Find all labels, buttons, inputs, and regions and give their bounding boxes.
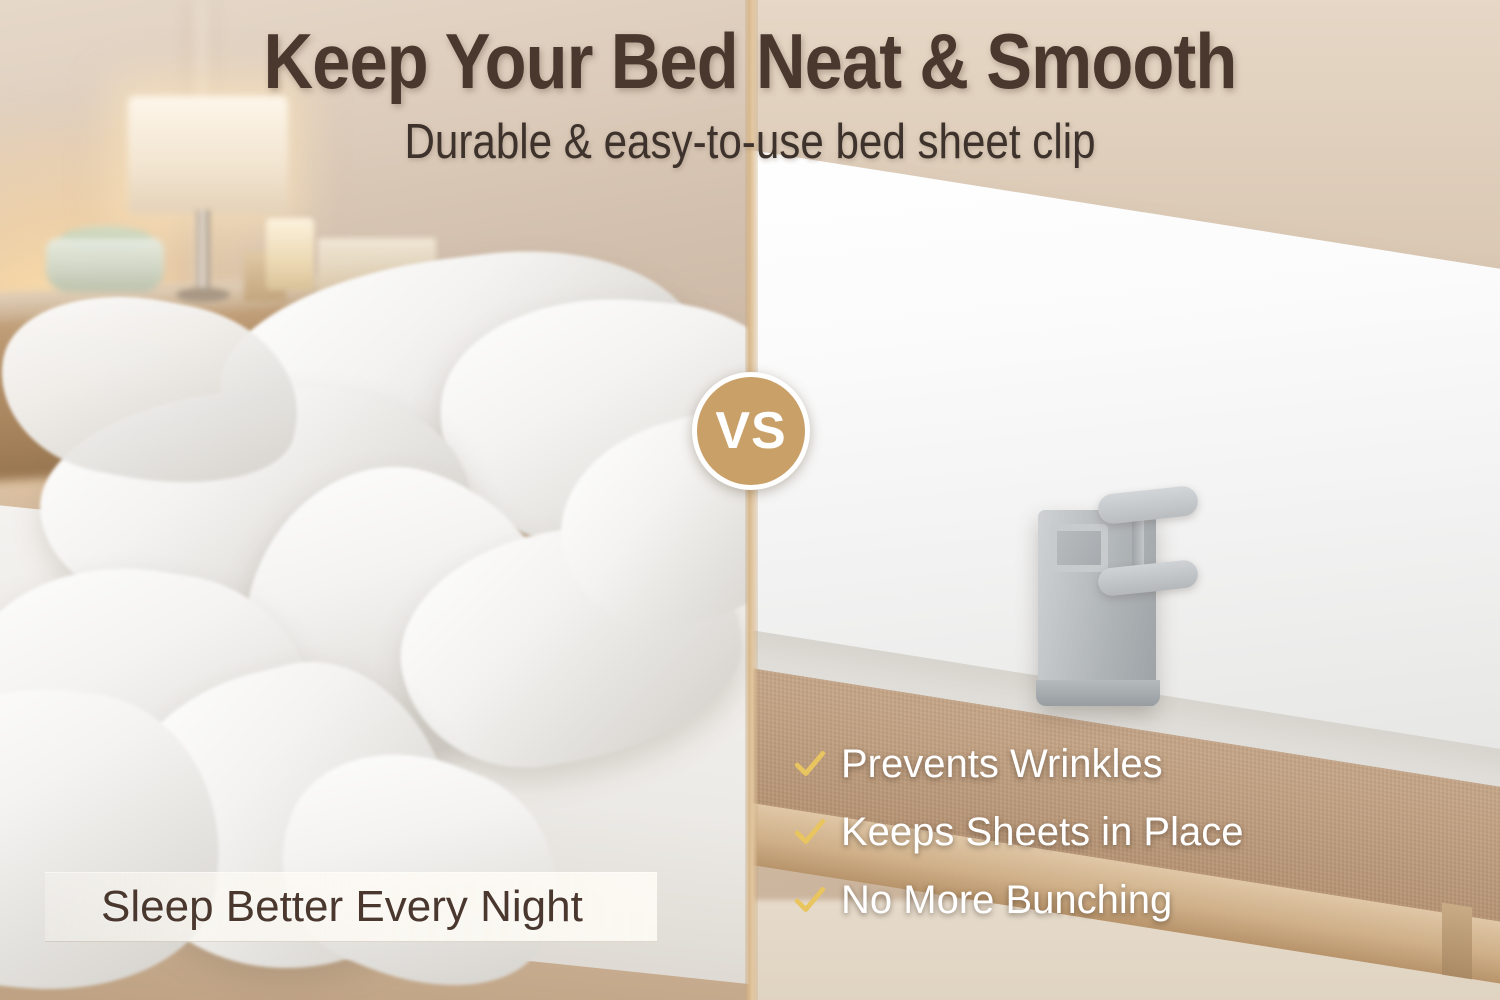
page-subtitle: Durable & easy-to-use bed sheet clip: [105, 118, 1395, 167]
left-caption-text: Sleep Better Every Night: [101, 885, 583, 929]
benefits-list: Prevents Wrinkles Keeps Sheets in Place …: [793, 730, 1243, 934]
list-item: Prevents Wrinkles: [793, 730, 1243, 798]
bed-sheet-clip-product: [1006, 480, 1206, 710]
benefit-label: Keeps Sheets in Place: [841, 812, 1243, 852]
check-icon: [793, 883, 827, 917]
check-icon: [793, 747, 827, 781]
check-icon: [793, 815, 827, 849]
list-item: Keeps Sheets in Place: [793, 798, 1243, 866]
clip-window: [1050, 524, 1108, 572]
benefit-label: No More Bunching: [841, 880, 1172, 920]
list-item: No More Bunching: [793, 866, 1243, 934]
vs-badge-label: VS: [715, 405, 786, 457]
benefit-label: Prevents Wrinkles: [841, 744, 1163, 784]
vs-badge: VS: [692, 372, 810, 490]
product-comparison-infographic: Sleep Better Every Night VS Keep Your Be…: [0, 0, 1500, 1000]
right-bed-leg: [1442, 903, 1472, 980]
clip-hinge: [1132, 514, 1144, 572]
header: Keep Your Bed Neat & Smooth Durable & ea…: [0, 0, 1500, 167]
page-title: Keep Your Bed Neat & Smooth: [90, 22, 1410, 102]
clip-foot: [1036, 680, 1160, 706]
left-caption-banner: Sleep Better Every Night: [45, 872, 657, 942]
clip-arm-top: [1097, 485, 1200, 525]
